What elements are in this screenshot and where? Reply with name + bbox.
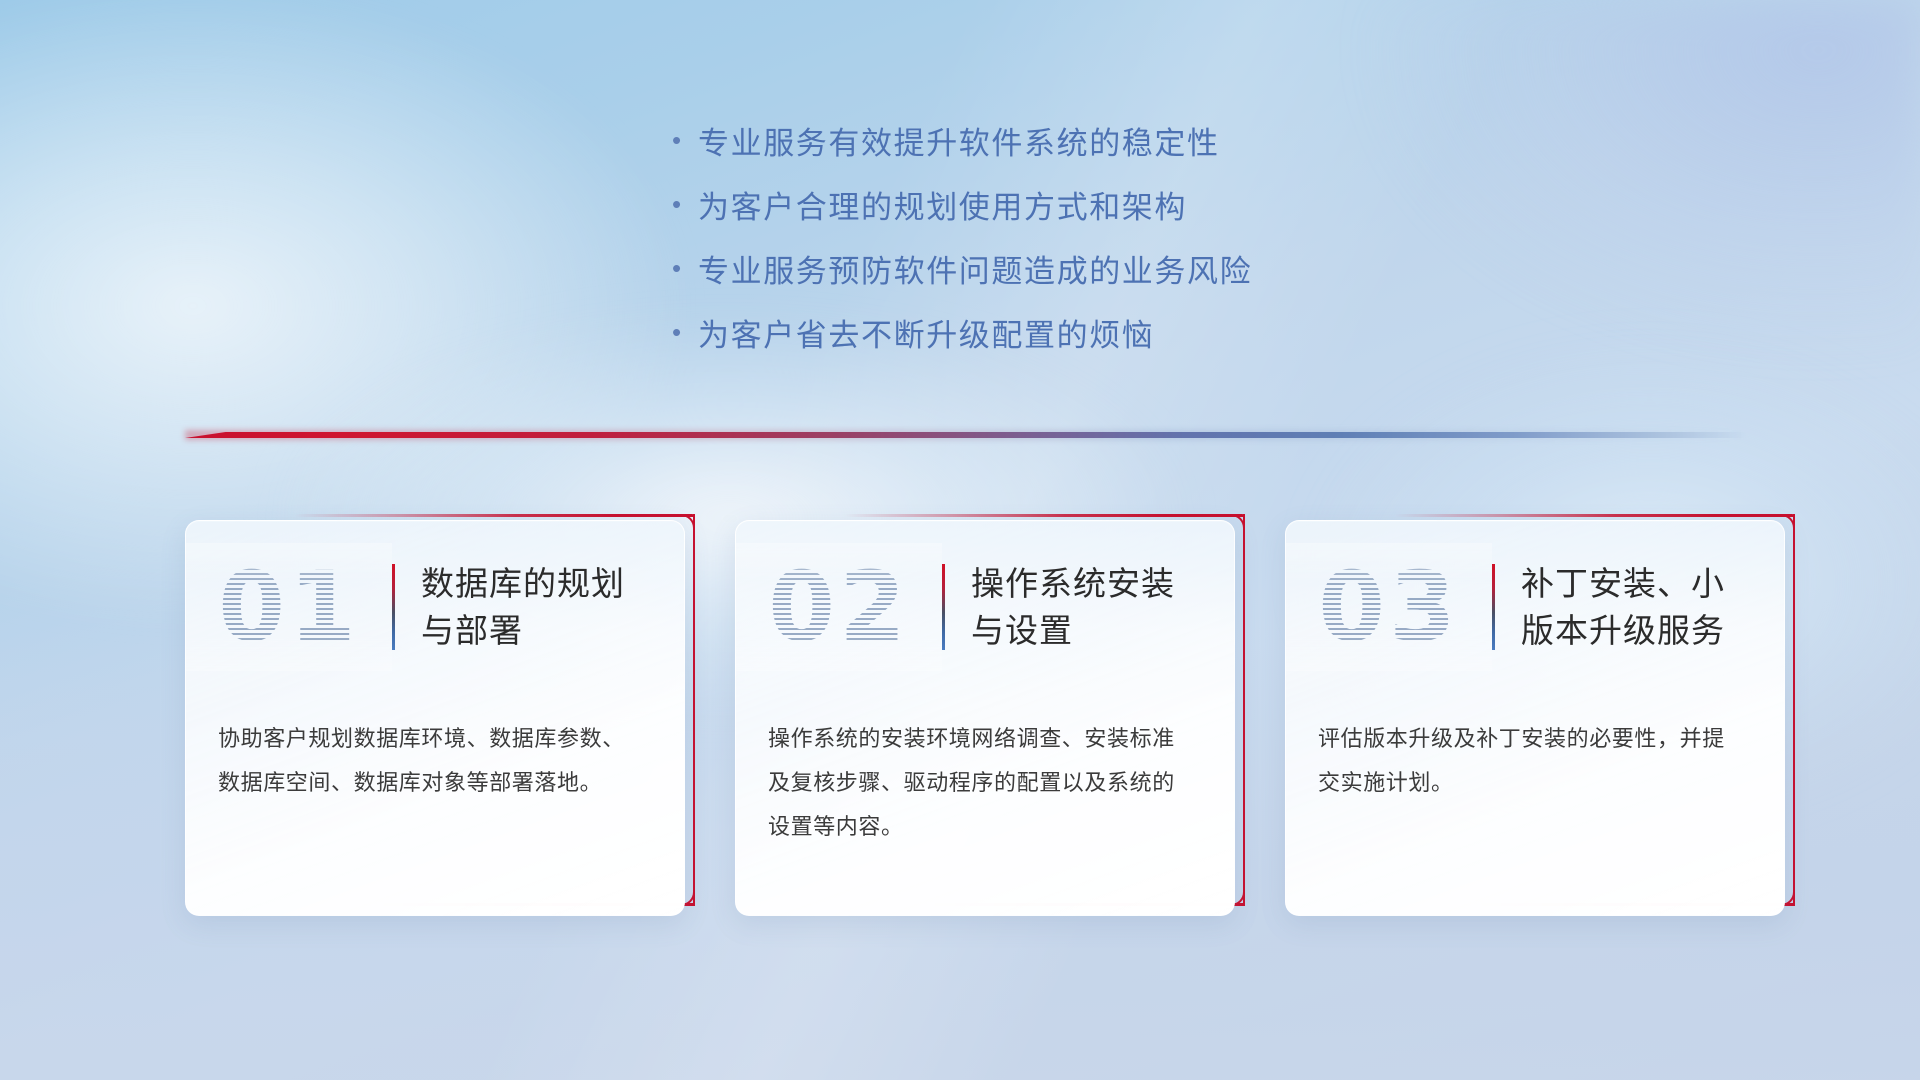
card-accent-right bbox=[1793, 514, 1796, 906]
card-header: 01 数据库的规划 与部署 bbox=[186, 543, 684, 671]
bullet-text: 专业服务有效提升软件系统的稳定性 bbox=[698, 118, 1220, 163]
bullet-dot-icon: • bbox=[672, 255, 698, 281]
card-description: 操作系统的安装环境网络调查、安装标准及复核步骤、驱动程序的配置以及系统的设置等内… bbox=[768, 717, 1180, 849]
card-accent-top bbox=[845, 514, 1245, 517]
service-card-01[interactable]: 01 数据库的规划 与部署 协助客户规划数据库环境、数据库参数、数据库空间、数据… bbox=[185, 520, 685, 920]
card-title-divider-bar bbox=[392, 564, 395, 650]
list-item: • 为客户省去不断升级配置的烦恼 bbox=[672, 300, 1432, 364]
card-accent-top bbox=[1395, 514, 1795, 517]
card-title-line-2: 与设置 bbox=[971, 607, 1221, 654]
card-title-line-2: 版本升级服务 bbox=[1521, 607, 1771, 654]
service-card-02[interactable]: 02 操作系统安装 与设置 操作系统的安装环境网络调查、安装标准及复核步骤、驱动… bbox=[735, 520, 1235, 920]
card-title-divider-bar bbox=[1492, 564, 1495, 650]
card-title: 补丁安装、小 版本升级服务 bbox=[1521, 560, 1771, 654]
bullet-text: 为客户省去不断升级配置的烦恼 bbox=[698, 310, 1154, 355]
card-number-watermark: 02 bbox=[736, 543, 942, 671]
card-surface: 02 操作系统安装 与设置 操作系统的安装环境网络调查、安装标准及复核步骤、驱动… bbox=[735, 520, 1235, 916]
card-title-line-2: 与部署 bbox=[421, 607, 671, 654]
bullet-dot-icon: • bbox=[672, 191, 698, 217]
card-title-line-1: 操作系统安装 bbox=[971, 560, 1221, 607]
list-item: • 专业服务有效提升软件系统的稳定性 bbox=[672, 108, 1432, 172]
card-surface: 03 补丁安装、小 版本升级服务 评估版本升级及补丁安装的必要性，并提交实施计划… bbox=[1285, 520, 1785, 916]
card-accent-right bbox=[693, 514, 696, 906]
service-card-03[interactable]: 03 补丁安装、小 版本升级服务 评估版本升级及补丁安装的必要性，并提交实施计划… bbox=[1285, 520, 1785, 920]
bullet-dot-icon: • bbox=[672, 127, 698, 153]
card-number-watermark: 01 bbox=[186, 543, 392, 671]
card-surface: 01 数据库的规划 与部署 协助客户规划数据库环境、数据库参数、数据库空间、数据… bbox=[185, 520, 685, 916]
bullet-dot-icon: • bbox=[672, 319, 698, 345]
list-item: • 专业服务预防软件问题造成的业务风险 bbox=[672, 236, 1432, 300]
card-accent-top bbox=[295, 514, 695, 517]
card-title-divider-bar bbox=[942, 564, 945, 650]
bullet-text: 专业服务预防软件问题造成的业务风险 bbox=[698, 246, 1252, 291]
benefits-bullet-list: • 专业服务有效提升软件系统的稳定性 • 为客户合理的规划使用方式和架构 • 专… bbox=[672, 108, 1432, 364]
list-item: • 为客户合理的规划使用方式和架构 bbox=[672, 172, 1432, 236]
card-title-line-1: 数据库的规划 bbox=[421, 560, 671, 607]
card-title: 操作系统安装 与设置 bbox=[971, 560, 1221, 654]
bullet-text: 为客户合理的规划使用方式和架构 bbox=[698, 182, 1187, 227]
card-title: 数据库的规划 与部署 bbox=[421, 560, 671, 654]
card-description: 协助客户规划数据库环境、数据库参数、数据库空间、数据库对象等部署落地。 bbox=[218, 717, 630, 805]
section-divider bbox=[185, 424, 1747, 446]
card-header: 03 补丁安装、小 版本升级服务 bbox=[1286, 543, 1784, 671]
card-number-watermark: 03 bbox=[1286, 543, 1492, 671]
card-header: 02 操作系统安装 与设置 bbox=[736, 543, 1234, 671]
card-description: 评估版本升级及补丁安装的必要性，并提交实施计划。 bbox=[1318, 717, 1730, 805]
card-accent-right bbox=[1243, 514, 1246, 906]
divider-line bbox=[185, 432, 1747, 438]
card-title-line-1: 补丁安装、小 bbox=[1521, 560, 1771, 607]
